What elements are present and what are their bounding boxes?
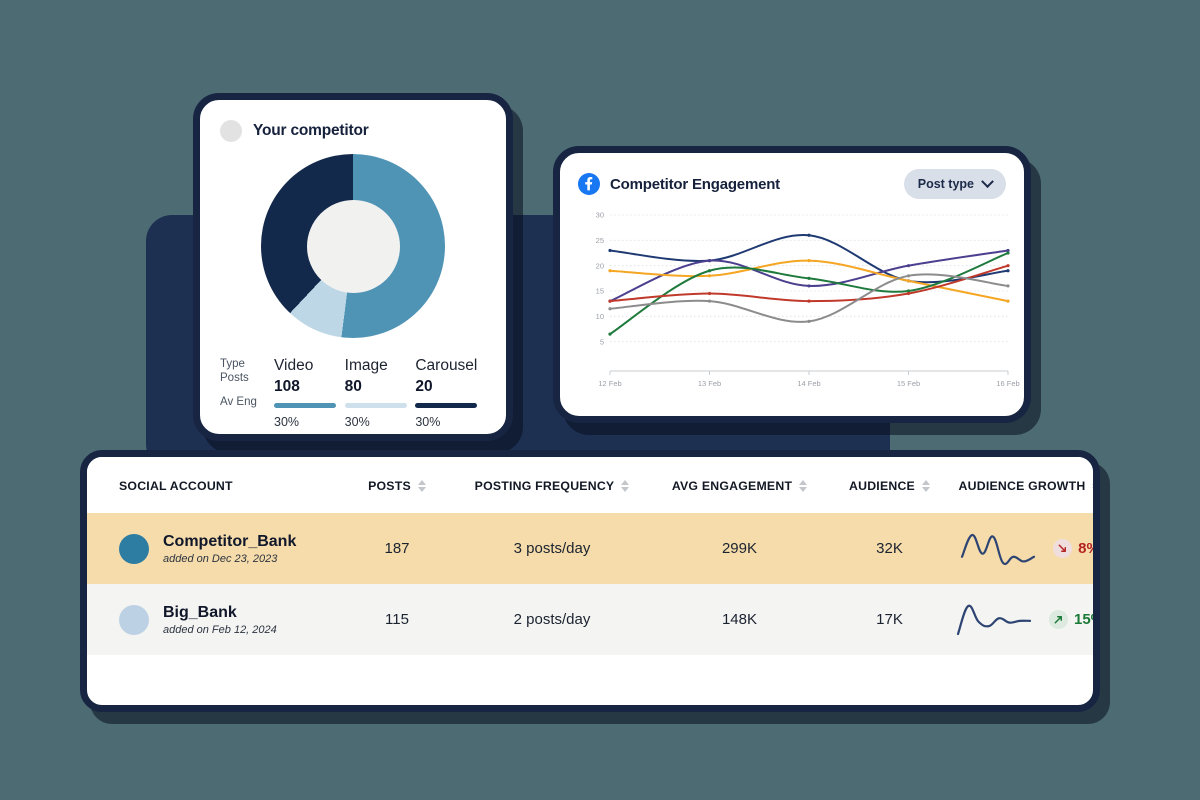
stat-posts-value: 20 xyxy=(415,377,486,398)
sort-toggle-icon[interactable] xyxy=(621,480,629,492)
growth-value: 15% xyxy=(1074,611,1100,628)
growth-cell: 8% xyxy=(952,513,1100,584)
stats-row-label-posts: Posts xyxy=(220,370,274,384)
arrow-up-right-icon xyxy=(1049,610,1068,629)
column-header-posts[interactable]: POSTS xyxy=(342,457,452,513)
post-type-filter-label: Post type xyxy=(918,177,974,191)
account-cell: Big_Bank added on Feb 12, 2024 xyxy=(87,584,342,655)
stat-type-label: Video xyxy=(274,356,345,377)
column-label: AUDIENCE xyxy=(849,479,915,493)
account-name: Big_Bank xyxy=(163,603,277,622)
column-label: AVG ENGAGEMENT xyxy=(672,479,792,493)
post-type-stats-table: Type Posts Av Eng Video 108 30% Image 80… xyxy=(220,356,486,429)
account-cell: Competitor_Bank added on Dec 23, 2023 xyxy=(87,513,342,584)
stat-color-bar xyxy=(274,403,336,408)
posts-cell: 115 xyxy=(342,584,452,655)
growth-sparkline xyxy=(959,532,1037,566)
frequency-cell: 2 posts/day xyxy=(452,584,652,655)
column-label: POSTING FREQUENCY xyxy=(475,479,615,493)
column-header-posting-frequency[interactable]: POSTING FREQUENCY xyxy=(452,457,652,513)
growth-cell: 15% xyxy=(952,584,1100,655)
svg-text:5: 5 xyxy=(600,337,604,346)
donut-card-header: Your competitor xyxy=(220,120,486,142)
audience-cell: 32K xyxy=(827,513,952,584)
svg-text:16 Feb: 16 Feb xyxy=(996,379,1019,388)
table-header: SOCIAL ACCOUNT POSTS POSTING FREQUENCY A… xyxy=(87,457,1100,513)
table-row[interactable]: Competitor_Bank added on Dec 23, 2023 18… xyxy=(87,513,1100,584)
post-type-filter-button[interactable]: Post type xyxy=(904,169,1006,199)
stat-color-bar xyxy=(415,403,477,408)
engagement-card-header: Competitor Engagement Post type xyxy=(578,169,1006,199)
status-badge: 15% xyxy=(1049,610,1100,629)
stat-engagement-value: 30% xyxy=(274,415,345,429)
growth-value: 8% xyxy=(1078,540,1100,557)
facebook-icon xyxy=(578,173,600,195)
stat-color-bar xyxy=(345,403,407,408)
svg-text:13 Feb: 13 Feb xyxy=(698,379,721,388)
audience-cell: 17K xyxy=(827,584,952,655)
competitor-accounts-table-card: SOCIAL ACCOUNT POSTS POSTING FREQUENCY A… xyxy=(80,450,1100,712)
engagement-cell: 148K xyxy=(652,584,827,655)
stat-engagement-value: 30% xyxy=(345,415,416,429)
svg-text:25: 25 xyxy=(596,236,604,245)
svg-text:14 Feb: 14 Feb xyxy=(797,379,820,388)
stat-posts-value: 80 xyxy=(345,377,416,398)
engagement-line-chart: 5101520253012 Feb13 Feb14 Feb15 Feb16 Fe… xyxy=(578,207,1006,397)
status-badge: 8% xyxy=(1053,539,1100,558)
stats-row-label-aveng: Av Eng xyxy=(220,384,274,408)
engagement-title: Competitor Engagement xyxy=(610,176,780,193)
sort-toggle-icon[interactable] xyxy=(418,480,426,492)
column-header-social-account[interactable]: SOCIAL ACCOUNT xyxy=(87,457,342,513)
competitor-breakdown-card: Your competitor Type Posts Av Eng Video … xyxy=(193,93,513,441)
account-avatar xyxy=(119,534,149,564)
screenshot-stage: Your competitor Type Posts Av Eng Video … xyxy=(0,0,1200,800)
svg-text:15 Feb: 15 Feb xyxy=(897,379,920,388)
stat-type-label: Carousel xyxy=(415,356,486,377)
svg-text:20: 20 xyxy=(596,261,604,270)
sort-toggle-icon[interactable] xyxy=(1092,480,1100,492)
svg-text:15: 15 xyxy=(596,287,604,296)
column-label: POSTS xyxy=(368,479,411,493)
posts-cell: 187 xyxy=(342,513,452,584)
post-type-donut-chart xyxy=(261,154,445,338)
account-avatar xyxy=(119,605,149,635)
stat-posts-value: 108 xyxy=(274,377,345,398)
competitor-accounts-table: SOCIAL ACCOUNT POSTS POSTING FREQUENCY A… xyxy=(87,457,1100,655)
stat-type-label: Image xyxy=(345,356,416,377)
svg-text:12 Feb: 12 Feb xyxy=(598,379,621,388)
column-label: SOCIAL ACCOUNT xyxy=(119,479,233,493)
stats-column-carousel: Carousel 20 30% xyxy=(415,356,486,429)
line-chart-svg: 5101520253012 Feb13 Feb14 Feb15 Feb16 Fe… xyxy=(578,207,1020,397)
table-body: Competitor_Bank added on Dec 23, 2023 18… xyxy=(87,513,1100,655)
account-name: Competitor_Bank xyxy=(163,532,296,551)
sort-toggle-icon[interactable] xyxy=(922,480,930,492)
growth-sparkline xyxy=(955,603,1033,637)
stat-engagement-value: 30% xyxy=(415,415,486,429)
page-title: Your competitor xyxy=(253,122,369,140)
account-added-date: added on Dec 23, 2023 xyxy=(163,553,296,565)
arrow-down-right-icon xyxy=(1053,539,1072,558)
svg-text:10: 10 xyxy=(596,312,604,321)
donut-chart-wrapper xyxy=(220,154,486,338)
chevron-down-icon xyxy=(981,175,994,188)
column-header-avg-engagement[interactable]: AVG ENGAGEMENT xyxy=(652,457,827,513)
column-header-audience-growth[interactable]: AUDIENCE GROWTH xyxy=(952,457,1100,513)
stats-row-label-type: Type xyxy=(220,356,274,370)
account-added-date: added on Feb 12, 2024 xyxy=(163,624,277,636)
avatar-circle-icon xyxy=(220,120,242,142)
table-row[interactable]: Big_Bank added on Feb 12, 2024 115 2 pos… xyxy=(87,584,1100,655)
column-header-audience[interactable]: AUDIENCE xyxy=(827,457,952,513)
engagement-cell: 299K xyxy=(652,513,827,584)
frequency-cell: 3 posts/day xyxy=(452,513,652,584)
sort-toggle-icon[interactable] xyxy=(799,480,807,492)
column-label: AUDIENCE GROWTH xyxy=(959,479,1086,493)
competitor-engagement-card: Competitor Engagement Post type 51015202… xyxy=(553,146,1031,423)
svg-text:30: 30 xyxy=(596,211,604,220)
stats-column-image: Image 80 30% xyxy=(345,356,416,429)
stats-column-video: Video 108 30% xyxy=(274,356,345,429)
